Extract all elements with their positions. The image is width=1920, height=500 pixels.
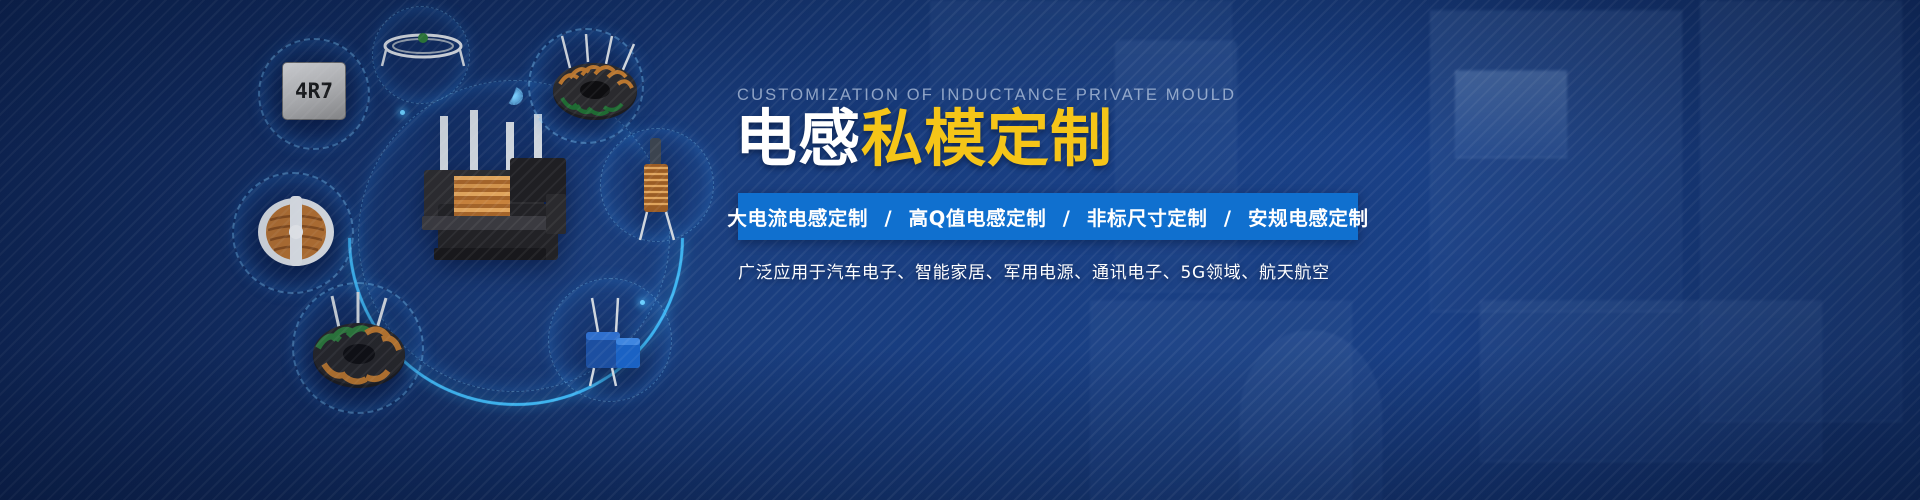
service-item-1[interactable]: 大电流电感定制 — [727, 207, 868, 230]
service-item-2[interactable]: 高Q值电感定制 — [909, 207, 1047, 230]
service-separator-2: / — [1054, 207, 1080, 230]
page-title: 电感私模定制 — [735, 108, 1113, 170]
services-list: 大电流电感定制 / 高Q值电感定制 / 非标尺寸定制 / 安规电感定制 — [727, 202, 1368, 231]
application-tagline: 广泛应用于汽车电子、智能家居、军用电源、通讯电子、5G领域、航天航空 — [738, 258, 1330, 283]
hero-banner: 4R7 — [0, 0, 1920, 500]
service-separator-1: / — [875, 207, 901, 230]
headline-gold-part: 私模定制 — [861, 102, 1113, 175]
headline-white-part: 电感 — [735, 102, 861, 175]
hero-text-block: CUSTOMIZATION OF INDUCTANCE PRIVATE MOUL… — [735, 0, 1875, 500]
service-item-3[interactable]: 非标尺寸定制 — [1087, 207, 1208, 230]
service-separator-3: / — [1215, 207, 1241, 230]
service-item-4[interactable]: 安规电感定制 — [1248, 207, 1369, 230]
services-bar: 大电流电感定制 / 高Q值电感定制 / 非标尺寸定制 / 安规电感定制 — [738, 193, 1358, 240]
